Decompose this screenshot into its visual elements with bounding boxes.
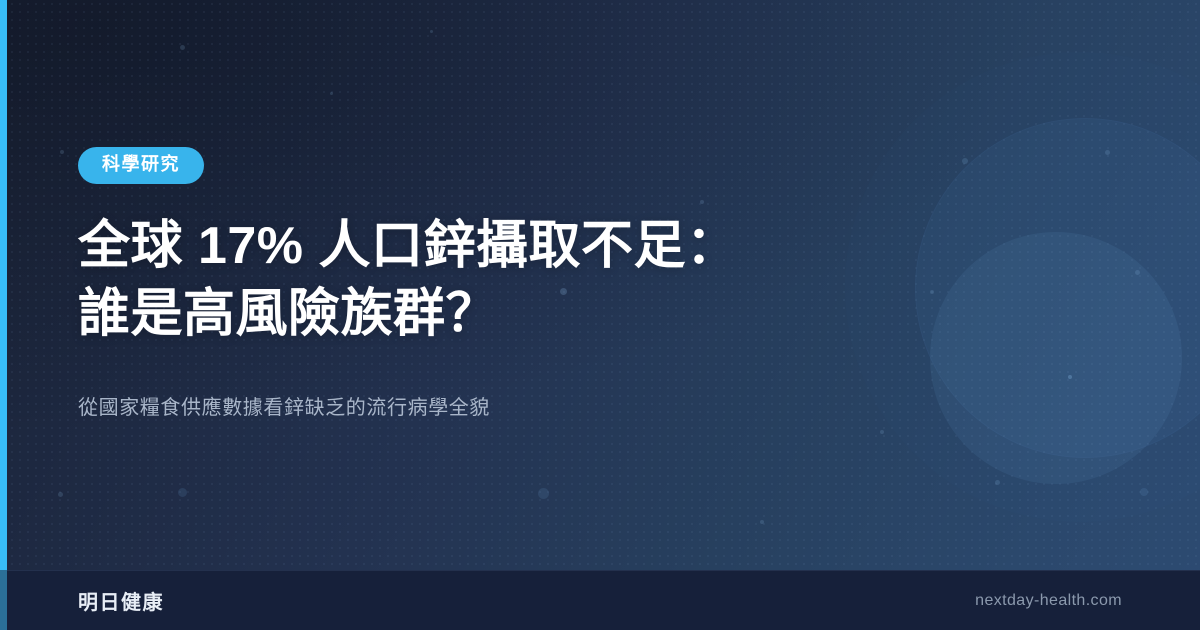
footer-accent-bar [0, 570, 7, 630]
page-subtitle: 從國家糧食供應數據看鋅缺乏的流行病學全貌 [78, 393, 878, 423]
site-url: nextday-health.com [975, 592, 1122, 610]
left-accent-bar [0, 0, 7, 570]
card-content: 科學研究 全球 17% 人口鋅攝取不足：誰是高風險族群？ 從國家糧食供應數據看鋅… [78, 0, 878, 570]
page-title: 全球 17% 人口鋅攝取不足：誰是高風險族群？ [78, 212, 778, 349]
brand-name: 明日健康 [78, 586, 164, 615]
decorative-circle-small [930, 232, 1182, 484]
category-badge: 科學研究 [78, 147, 204, 184]
card-footer: 明日健康 nextday-health.com [0, 570, 1200, 630]
og-share-card: 科學研究 全球 17% 人口鋅攝取不足：誰是高風險族群？ 從國家糧食供應數據看鋅… [0, 0, 1200, 630]
